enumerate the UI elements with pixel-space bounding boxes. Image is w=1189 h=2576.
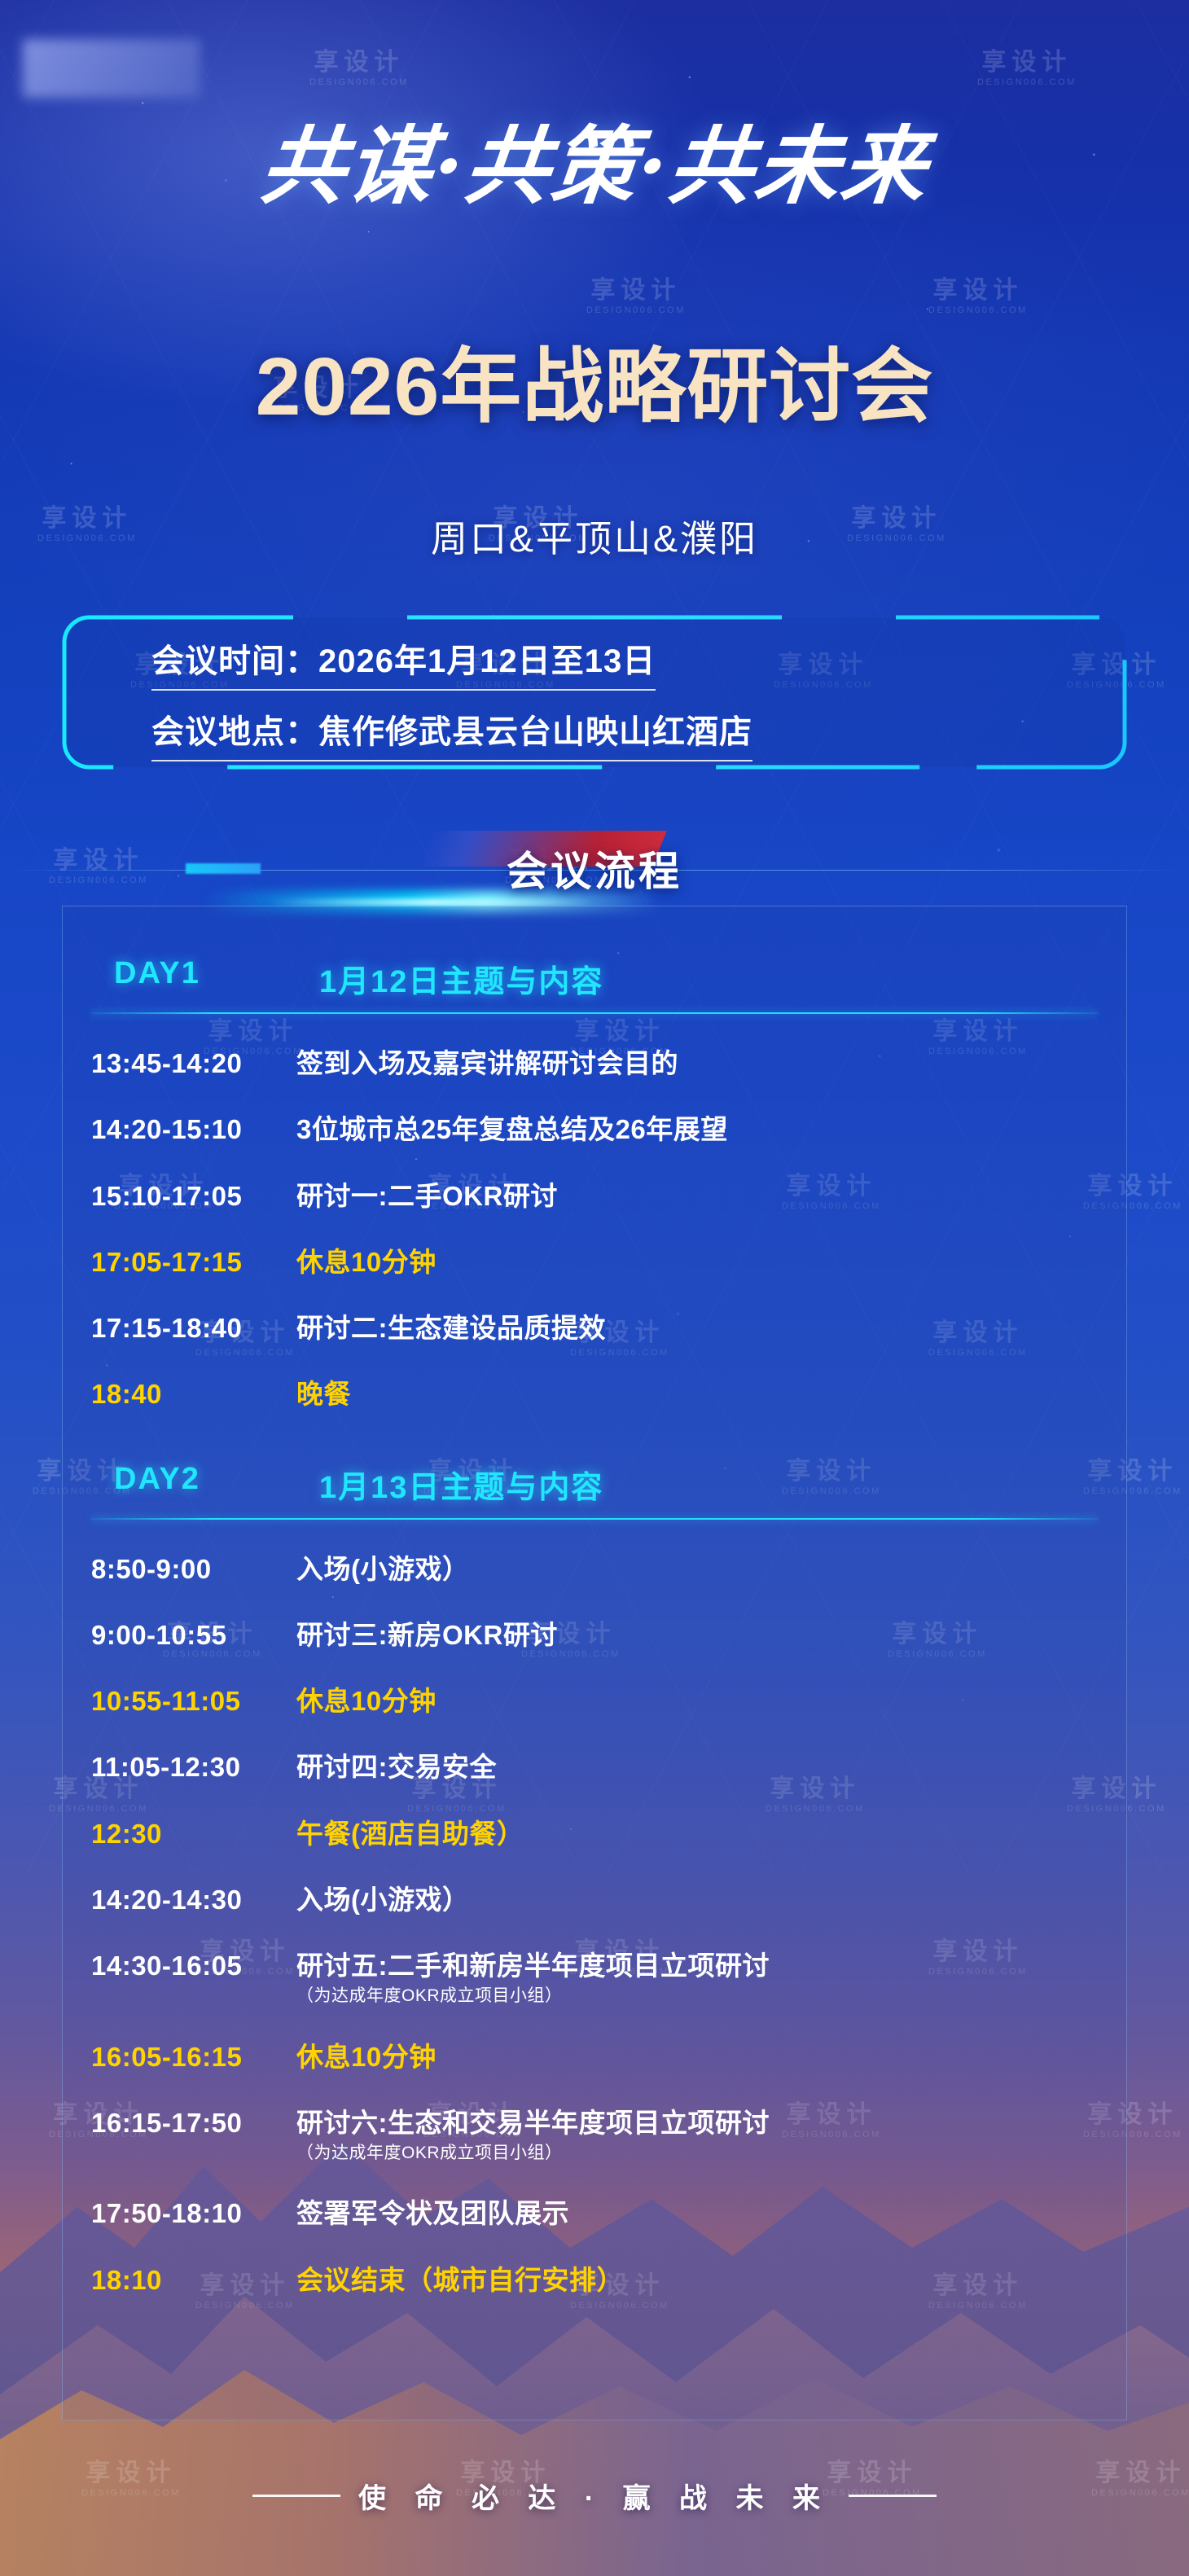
row-time: 9:00-10:55 xyxy=(91,1618,296,1652)
section-title: 会议流程 xyxy=(0,839,1189,897)
row-topic: 研讨五:二手和新房半年度项目立项研讨 （为达成年度OKR成立项目小组） xyxy=(296,1949,1098,2008)
row-topic: 午餐(酒店自助餐） xyxy=(296,1817,1098,1850)
watermark-cn: 享设计 xyxy=(586,277,686,304)
day2-divider xyxy=(91,1518,1098,1520)
banner-cyan-core-line xyxy=(269,899,594,906)
row-topic: 入场(小游戏） xyxy=(296,1883,1098,1916)
row-topic: 入场(小游戏） xyxy=(296,1552,1098,1586)
day1-divider xyxy=(91,1012,1098,1014)
row-topic: 休息10分钟 xyxy=(296,1684,1098,1718)
day2-topic-label: 1月13日主题与内容 xyxy=(319,1462,1098,1507)
table-row: 18:10 会议结束（城市自行安排） xyxy=(62,2263,1127,2297)
watermark-cn: 享设计 xyxy=(977,49,1077,76)
row-time: 8:50-9:00 xyxy=(91,1552,296,1586)
day2-label: DAY2 xyxy=(91,1462,319,1497)
row-time: 14:30-16:05 xyxy=(91,1949,296,1982)
table-row: 17:15-18:40 研讨二:生态建设品质提效 xyxy=(62,1311,1127,1345)
footer-dash-left xyxy=(252,2495,340,2497)
city-subtitle: 周口&平顶山&濮阳 xyxy=(0,509,1189,562)
row-time: 16:15-17:50 xyxy=(91,2106,296,2139)
table-row: 10:55-11:05 休息10分钟 xyxy=(62,1684,1127,1718)
row-time: 11:05-12:30 xyxy=(91,1750,296,1784)
footer-slogan: 使 命 必 达 · 赢 战 未 来 xyxy=(0,2476,1189,2516)
watermark-cn: 享设计 xyxy=(309,49,409,76)
row-topic-note: （为达成年度OKR成立项目小组） xyxy=(296,2143,1098,2164)
table-row: 18:40 晚餐 xyxy=(62,1377,1127,1411)
row-time: 17:15-18:40 xyxy=(91,1311,296,1345)
row-topic: 签到入场及嘉宾讲解研讨会目的 xyxy=(296,1047,1098,1080)
day1-topic-label: 1月12日主题与内容 xyxy=(319,956,1098,1001)
meeting-info-box: 会议时间：2026年1月12日至13日 会议地点：焦作修武县云台山映山红酒店 xyxy=(62,615,1127,770)
row-time: 18:10 xyxy=(91,2263,296,2297)
table-row: 14:30-16:05 研讨五:二手和新房半年度项目立项研讨 （为达成年度OKR… xyxy=(62,1949,1127,2008)
table-row: 9:00-10:55 研讨三:新房OKR研讨 xyxy=(62,1618,1127,1652)
row-time: 18:40 xyxy=(91,1377,296,1411)
day1-label: DAY1 xyxy=(91,956,319,991)
day1-header-row: DAY1 1月12日主题与内容 xyxy=(62,956,1127,1001)
brand-logo-plate xyxy=(23,39,200,98)
row-time: 12:30 xyxy=(91,1817,296,1850)
row-topic: 休息10分钟 xyxy=(296,1245,1098,1279)
row-topic-main: 研讨五:二手和新房半年度项目立项研讨 xyxy=(296,1951,770,1981)
page-title: 2026年战略研讨会 xyxy=(0,342,1189,432)
poster-root: 享设计DESIGN006.COM 享设计DESIGN006.COM 享设计DES… xyxy=(0,0,1189,2576)
row-topic: 晚餐 xyxy=(296,1377,1098,1411)
footer-dash-right xyxy=(849,2495,937,2497)
table-row: 14:20-14:30 入场(小游戏） xyxy=(62,1883,1127,1916)
table-row: 16:15-17:50 研讨六:生态和交易半年度项目立项研讨 （为达成年度OKR… xyxy=(62,2106,1127,2165)
row-time: 13:45-14:20 xyxy=(91,1047,296,1080)
row-time: 17:05-17:15 xyxy=(91,1245,296,1279)
watermark-en: DESIGN006.COM xyxy=(977,77,1077,87)
table-row: 13:45-14:20 签到入场及嘉宾讲解研讨会目的 xyxy=(62,1047,1127,1080)
row-topic-note: （为达成年度OKR成立项目小组） xyxy=(296,1986,1098,2007)
footer-slogan-text: 使 命 必 达 · 赢 战 未 来 xyxy=(358,2476,831,2516)
table-row: 16:05-16:15 休息10分钟 xyxy=(62,2040,1127,2074)
row-topic: 研讨三:新房OKR研讨 xyxy=(296,1618,1098,1652)
row-time: 16:05-16:15 xyxy=(91,2040,296,2074)
meeting-place-line: 会议地点：焦作修武县云台山映山红酒店 xyxy=(151,705,752,761)
row-topic: 休息10分钟 xyxy=(296,2040,1098,2074)
table-row: 14:20-15:10 3位城市总25年复盘总结及26年展望 xyxy=(62,1112,1127,1146)
table-row: 12:30 午餐(酒店自助餐） xyxy=(62,1817,1127,1850)
row-time: 14:20-15:10 xyxy=(91,1112,296,1146)
meeting-time-line: 会议时间：2026年1月12日至13日 xyxy=(151,634,656,691)
table-row: 17:05-17:15 休息10分钟 xyxy=(62,1245,1127,1279)
row-topic: 会议结束（城市自行安排） xyxy=(296,2263,1098,2297)
day2-header-row: DAY2 1月13日主题与内容 xyxy=(62,1462,1127,1507)
row-topic-main: 研讨六:生态和交易半年度项目立项研讨 xyxy=(296,2108,770,2138)
meeting-info-lines: 会议时间：2026年1月12日至13日 会议地点：焦作修武县云台山映山红酒店 xyxy=(151,634,1078,761)
watermark-en: DESIGN006.COM xyxy=(928,305,1028,315)
brush-calligraphy-title: 共谋·共策·共未来 xyxy=(0,121,1189,212)
table-row: 11:05-12:30 研讨四:交易安全 xyxy=(62,1750,1127,1784)
watermark-en: DESIGN006.COM xyxy=(586,305,686,315)
row-topic: 研讨一:二手OKR研讨 xyxy=(296,1179,1098,1213)
schedule-table: DAY1 1月12日主题与内容 13:45-14:20 签到入场及嘉宾讲解研讨会… xyxy=(62,906,1127,2297)
row-topic: 签署军令状及团队展示 xyxy=(296,2196,1098,2230)
row-topic: 研讨四:交易安全 xyxy=(296,1750,1098,1784)
table-row: 8:50-9:00 入场(小游戏） xyxy=(62,1552,1127,1586)
row-time: 10:55-11:05 xyxy=(91,1684,296,1718)
table-row: 15:10-17:05 研讨一:二手OKR研讨 xyxy=(62,1179,1127,1213)
row-time: 17:50-18:10 xyxy=(91,2196,296,2230)
row-topic: 3位城市总25年复盘总结及26年展望 xyxy=(296,1112,1098,1146)
watermark-cn: 享设计 xyxy=(928,277,1028,304)
row-topic: 研讨二:生态建设品质提效 xyxy=(296,1311,1098,1345)
row-time: 15:10-17:05 xyxy=(91,1179,296,1213)
row-topic: 研讨六:生态和交易半年度项目立项研讨 （为达成年度OKR成立项目小组） xyxy=(296,2106,1098,2165)
watermark-en: DESIGN006.COM xyxy=(309,77,409,87)
table-row: 17:50-18:10 签署军令状及团队展示 xyxy=(62,2196,1127,2230)
row-time: 14:20-14:30 xyxy=(91,1883,296,1916)
